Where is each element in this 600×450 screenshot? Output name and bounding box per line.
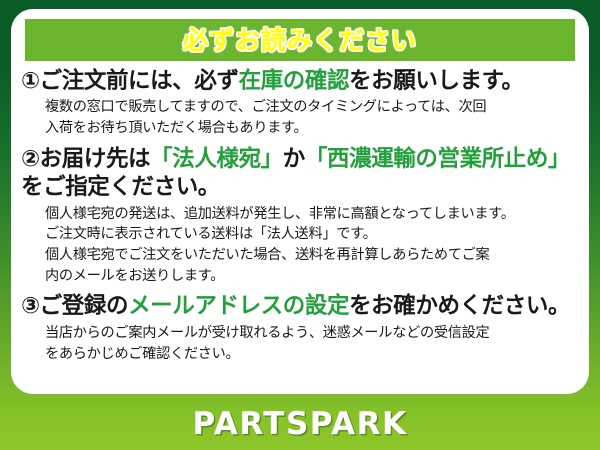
notice-heading: ③ご登録のメールアドレスの設定をお確かめください。: [21, 292, 579, 320]
notice-body: 個人様宅宛の発送は、追加送料が発生し、非常に高額となってしまいます。 ご注文時に…: [21, 202, 579, 287]
notice-heading-highlight: 在庫の確認: [239, 68, 350, 94]
notice-number: ①: [21, 68, 40, 94]
notice-heading-highlight: 「西濃運輸の営業所止め」: [305, 146, 570, 172]
notice-heading-text: ご注文前には、必ず: [40, 68, 239, 94]
footer-brand-bar: PARTSPARK: [0, 398, 600, 450]
page-title: 必ずお読みください: [183, 28, 417, 53]
notice-heading-text: か: [283, 146, 305, 172]
notice-heading-highlight: 「法人様宛」: [150, 146, 283, 172]
notice-heading: ②お届け先は「法人様宛」か「西濃運輸の営業所止め」 をご指定ください。: [21, 145, 579, 202]
notice-heading-text: をご指定ください。: [21, 174, 220, 200]
notice-poster: 必ずお読みください ①ご注文前には、必ず在庫の確認をお願いします。複数の窓口で販…: [0, 0, 600, 450]
notice-heading-text: お届け先は: [40, 146, 151, 172]
notice-body: 複数の窓口で販売してますので、ご注文のタイミングによっては、次回 入荷をお待ち頂…: [21, 95, 579, 138]
notice-heading-highlight: メールアドレスの設定: [128, 293, 349, 319]
notice-heading-text: をお確かめください。: [349, 293, 570, 319]
notice-item: ②お届け先は「法人様宛」か「西濃運輸の営業所止め」 をご指定ください。個人様宅宛…: [11, 145, 589, 287]
notice-item: ③ご登録のメールアドレスの設定をお確かめください。当店からのご案内メールが受け取…: [11, 292, 589, 364]
header-banner: 必ずお読みください: [25, 19, 575, 61]
notice-heading-text: をお願いします。: [349, 68, 524, 94]
white-content-card: 必ずお読みください ①ご注文前には、必ず在庫の確認をお願いします。複数の窓口で販…: [11, 9, 589, 394]
notice-item: ①ご注文前には、必ず在庫の確認をお願いします。複数の窓口で販売してますので、ご注…: [11, 67, 589, 139]
notice-heading-text: ご登録の: [40, 293, 128, 319]
notice-heading: ①ご注文前には、必ず在庫の確認をお願いします。: [21, 67, 579, 95]
brand-logo-text: PARTSPARK: [192, 406, 407, 442]
notice-number: ③: [21, 293, 40, 319]
notice-list: ①ご注文前には、必ず在庫の確認をお願いします。複数の窓口で販売してますので、ご注…: [11, 67, 589, 364]
notice-body: 当店からのご案内メールが受け取れるよう、迷惑メールなどの受信設定 をあらかじめご…: [21, 321, 579, 364]
notice-number: ②: [21, 146, 40, 172]
